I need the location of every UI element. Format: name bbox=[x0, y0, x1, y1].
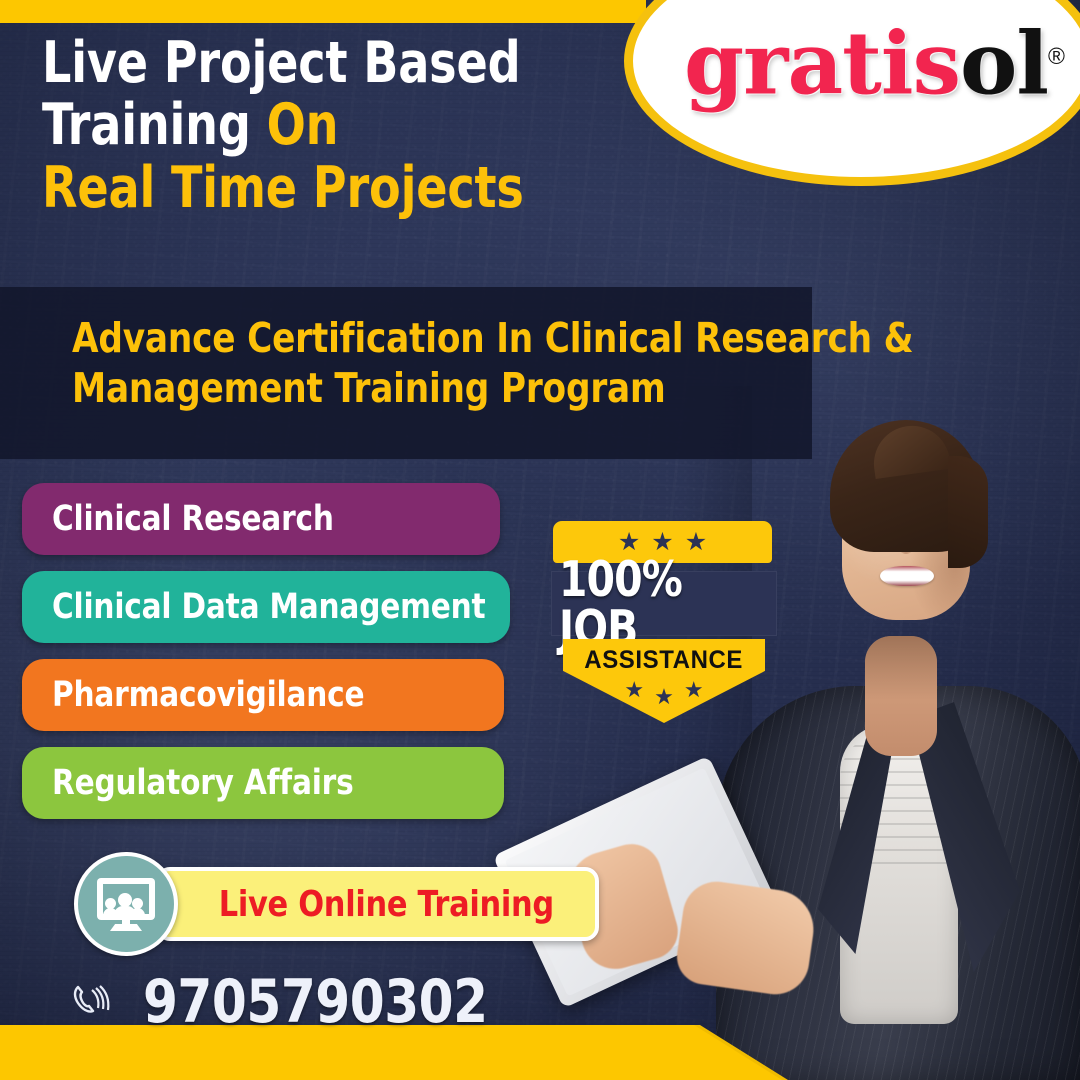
job-assistance-badge: ★ ★ ★ 100% JOB ASSISTANCE ★ ★ ★ bbox=[551, 521, 777, 723]
top-gold-bar bbox=[0, 0, 646, 23]
headline-line-2-accent: On bbox=[267, 92, 339, 158]
course-label: Pharmacovigilance bbox=[52, 675, 364, 715]
subtitle-line-2: Management Training Program bbox=[72, 363, 779, 413]
monitor-people-icon bbox=[74, 852, 178, 956]
subtitle: Advance Certification In Clinical Resear… bbox=[72, 313, 779, 413]
live-online-training-label: Live Online Training bbox=[219, 884, 554, 925]
badge-headline-band: 100% JOB bbox=[551, 571, 777, 636]
hair-side bbox=[948, 456, 988, 568]
headline-line-1: Live Project Based bbox=[42, 30, 520, 96]
star-icon: ★ bbox=[685, 530, 707, 555]
badge-shield: ASSISTANCE ★ ★ ★ bbox=[563, 639, 765, 723]
contact-row[interactable]: 9705790302 bbox=[66, 972, 501, 1032]
star-icon: ★ bbox=[654, 686, 674, 708]
headline-line-3: Real Time Projects bbox=[42, 155, 524, 221]
live-online-training-pill[interactable]: Live Online Training bbox=[156, 867, 599, 941]
badge-subline: ASSISTANCE bbox=[585, 646, 744, 675]
course-pill-regulatory-affairs[interactable]: Regulatory Affairs bbox=[22, 747, 504, 819]
ringing-phone-icon bbox=[66, 977, 116, 1027]
brand-logo[interactable]: gratisol® bbox=[624, 0, 1080, 186]
star-icon: ★ bbox=[684, 679, 704, 708]
logo-text-primary: gratis bbox=[684, 13, 960, 114]
logo-wordmark: gratisol® bbox=[624, 21, 1080, 107]
course-label: Clinical Data Management bbox=[52, 587, 486, 627]
badge-headline: 100% JOB bbox=[559, 555, 769, 653]
neck-shadow bbox=[865, 636, 937, 700]
promotional-banner: gratisol® Live Project Based Training On… bbox=[0, 0, 1080, 1080]
phone-number: 9705790302 bbox=[143, 972, 488, 1032]
headline-line-2-white: Training bbox=[42, 92, 267, 158]
businesswoman-photo bbox=[722, 386, 1080, 1080]
course-label: Clinical Research bbox=[52, 499, 334, 539]
course-label: Regulatory Affairs bbox=[52, 763, 354, 803]
course-list: Clinical Research Clinical Data Manageme… bbox=[22, 483, 510, 835]
star-icon: ★ bbox=[624, 679, 644, 708]
smile bbox=[880, 566, 934, 586]
subtitle-line-1: Advance Certification In Clinical Resear… bbox=[72, 313, 779, 363]
course-pill-pharmacovigilance[interactable]: Pharmacovigilance bbox=[22, 659, 504, 731]
registered-trademark-icon: ® bbox=[1048, 43, 1064, 69]
course-pill-clinical-research[interactable]: Clinical Research bbox=[22, 483, 500, 555]
live-online-training-cta[interactable]: Live Online Training bbox=[74, 852, 599, 956]
course-pill-clinical-data-management[interactable]: Clinical Data Management bbox=[22, 571, 510, 643]
headline: Live Project Based Training On Real Time… bbox=[42, 36, 591, 223]
badge-bottom-stars: ★ ★ ★ bbox=[563, 679, 765, 708]
logo-text-secondary: ol bbox=[960, 13, 1048, 114]
